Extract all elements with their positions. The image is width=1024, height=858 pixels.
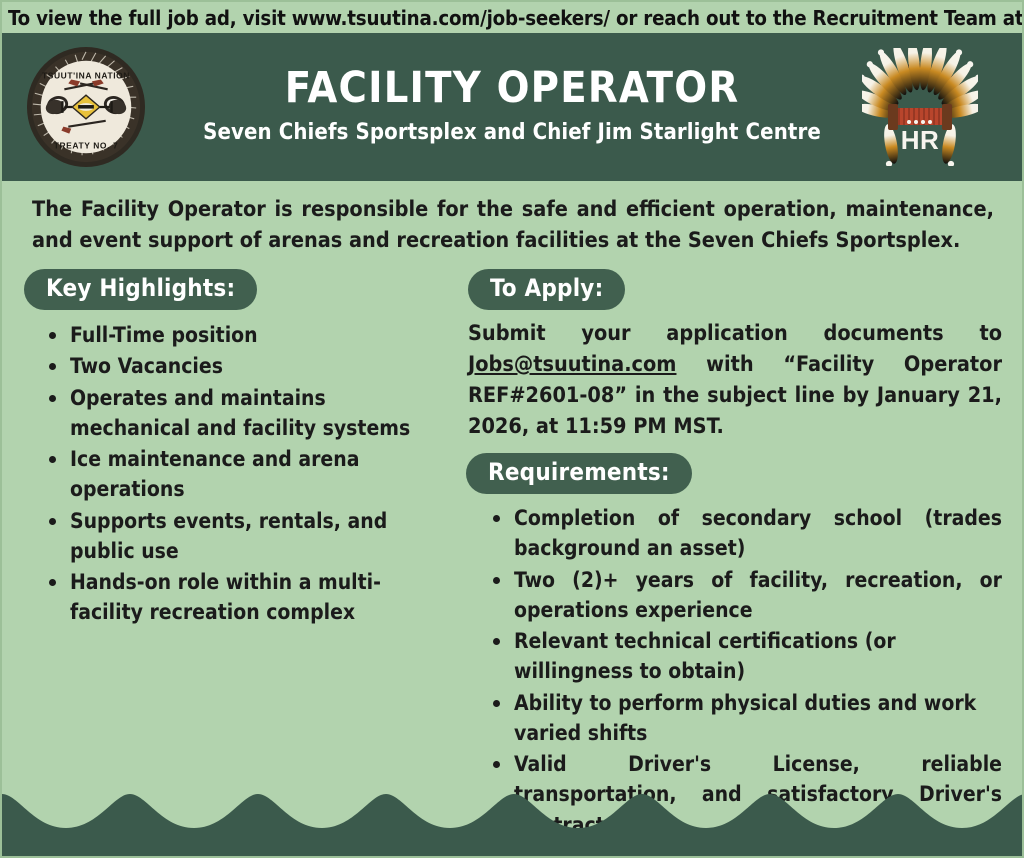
header-title-block: FACILITY OPERATOR Seven Chiefs Sportsple… — [203, 66, 821, 143]
key-highlights-heading: Key Highlights: — [24, 269, 257, 310]
list-item: Operates and maintains mechanical and fa… — [70, 383, 448, 443]
job-title: FACILITY OPERATOR — [203, 66, 821, 111]
list-item: Completion of secondary school (trades b… — [514, 503, 1002, 563]
list-item: Two Vacancies — [70, 351, 448, 381]
list-item: Ice maintenance and arena operations — [70, 444, 448, 504]
apply-email-link[interactable]: Jobs@tsuutina.com — [468, 352, 676, 377]
job-subtitle: Seven Chiefs Sportsplex and Chief Jim St… — [203, 121, 821, 144]
top-contact-text: To view the full job ad, visit www.tsuut… — [8, 6, 1024, 30]
list-item: Hands-on role within a multi-facility re… — [70, 567, 448, 627]
svg-text:TREATY NO. 7: TREATY NO. 7 — [54, 140, 119, 150]
list-item: Two (2)+ years of facility, recreation, … — [514, 565, 1002, 625]
svg-text:HR: HR — [901, 125, 940, 155]
to-apply-heading: To Apply: — [468, 269, 625, 310]
svg-text:TSUUT'INA NATION: TSUUT'INA NATION — [42, 70, 130, 80]
key-highlights-list: Full-Time position Two Vacancies Operate… — [24, 320, 448, 627]
footer-wave-decoration — [2, 784, 1024, 856]
apply-text-before-email: Submit your application documents to — [468, 321, 1002, 346]
tsuutina-nation-seal-icon: TSUUT'INA NATION TREATY NO. 7 — [24, 46, 148, 168]
intro-paragraph: The Facility Operator is responsible for… — [2, 181, 1022, 256]
content-columns: Key Highlights: Full-Time position Two V… — [2, 256, 1022, 858]
list-item: Ability to perform physical duties and w… — [514, 688, 1002, 748]
requirements-heading: Requirements: — [466, 453, 692, 494]
list-item: Relevant technical certifications (or wi… — [514, 626, 1002, 686]
header-band: TSUUT'INA NATION TREATY NO. 7 — [2, 33, 1022, 181]
list-item: Supports events, rentals, and public use — [70, 506, 448, 566]
key-highlights-column: Key Highlights: Full-Time position Two V… — [24, 269, 448, 629]
list-item: Full-Time position — [70, 320, 448, 350]
to-apply-instructions: Submit your application documents to Job… — [468, 319, 1002, 443]
requirements-heading-wrap: Requirements: — [466, 453, 1002, 494]
top-contact-strip: To view the full job ad, visit www.tsuut… — [2, 2, 1022, 33]
tsuutina-human-resources-logo-icon: Tsuut'ina Human Resources — [862, 48, 978, 166]
job-posting-poster: To view the full job ad, visit www.tsuut… — [0, 0, 1024, 858]
to-apply-column: To Apply: Submit your application docume… — [462, 269, 1002, 858]
